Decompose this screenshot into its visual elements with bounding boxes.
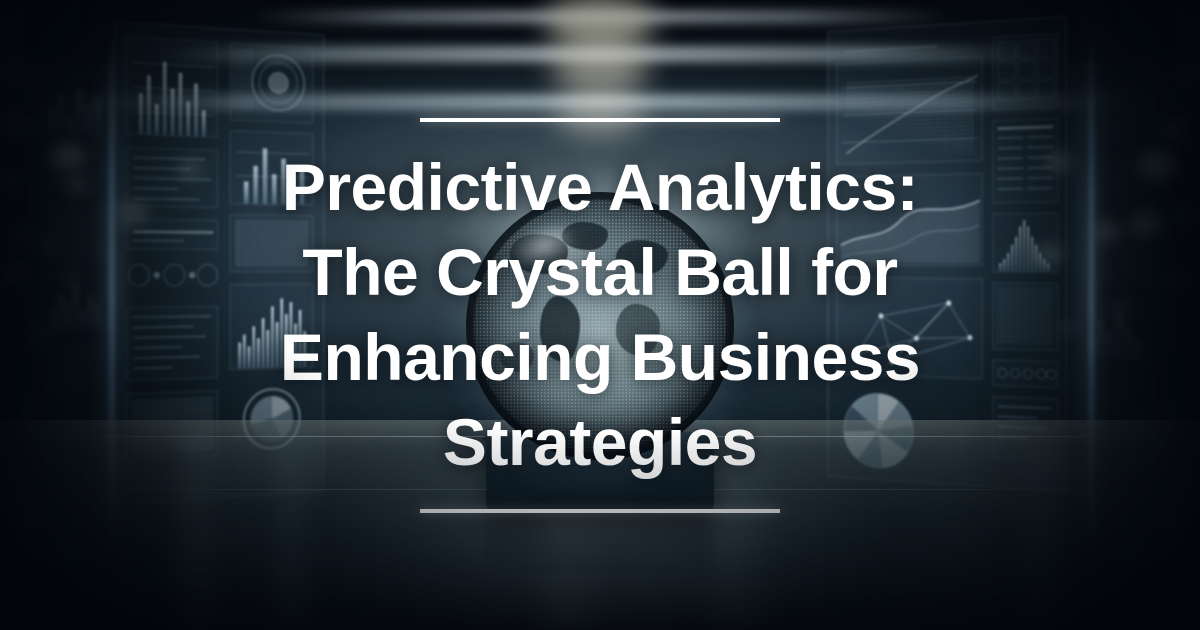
title-block: Predictive Analytics: The Crystal Ball f…	[0, 0, 1200, 630]
title-line-1: Predictive Analytics:	[280, 145, 920, 230]
rule-bottom	[420, 509, 780, 513]
page-title: Predictive Analytics: The Crystal Ball f…	[280, 145, 920, 485]
title-line-4: Strategies	[280, 400, 920, 485]
title-line-2: The Crystal Ball for	[280, 230, 920, 315]
rule-top	[420, 118, 780, 122]
hero-banner: Predictive Analytics: The Crystal Ball f…	[0, 0, 1200, 630]
title-line-3: Enhancing Business	[280, 315, 920, 400]
